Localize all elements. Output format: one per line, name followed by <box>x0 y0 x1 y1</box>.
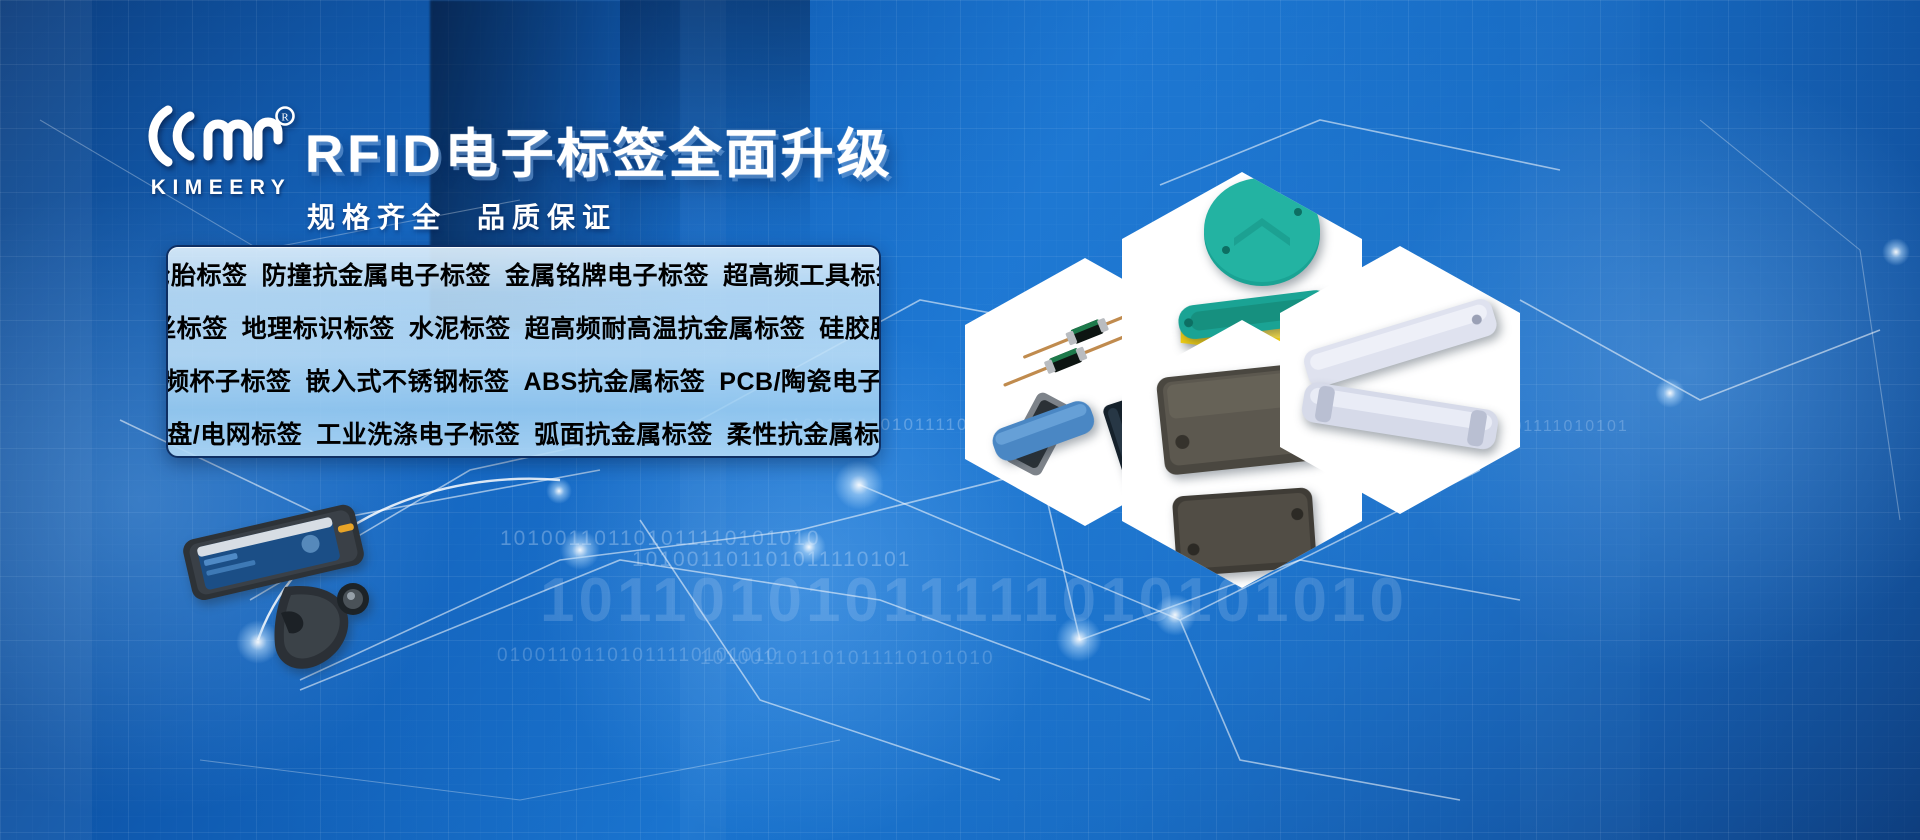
rfid-promo-banner: 01001101101011110101010 1010011011010111… <box>0 0 1920 840</box>
handheld-rfid-reader <box>165 495 380 670</box>
product-hexagon-group <box>0 0 1920 840</box>
handheld-rfid-reader-icon <box>165 495 380 680</box>
